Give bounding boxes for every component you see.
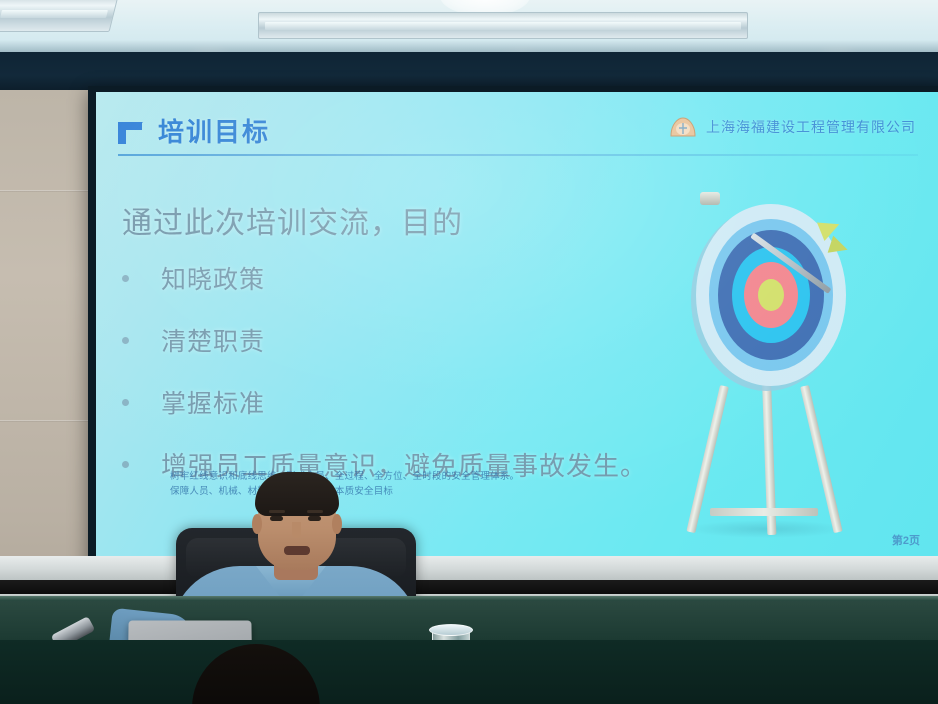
slide-lead-text: 通过此次培训交流，目的 [122, 198, 463, 242]
presenter-hair [255, 472, 339, 516]
slide-page-number: 第2页 [892, 532, 920, 548]
company-branding: 上海海福建设工程管理有限公司 [668, 116, 916, 138]
bullet-text: 知晓政策 [161, 260, 265, 296]
list-item: 清楚职责 [122, 322, 647, 358]
corner-bracket-icon [118, 122, 142, 144]
water-glass-rim [429, 624, 473, 636]
presenter-eyebrow [307, 510, 323, 513]
bullet-dot-icon [122, 399, 129, 406]
presenter-eyebrow [269, 510, 285, 513]
header-divider [118, 154, 918, 156]
target-illustration [634, 190, 934, 530]
company-name: 上海海福建设工程管理有限公司 [706, 117, 916, 137]
presenter-eye [270, 516, 283, 521]
slide-header: 培训目标 上海海福建设工程管理有限公司 [96, 110, 938, 162]
presenter-ear [332, 514, 342, 534]
list-item: 知晓政策 [122, 260, 647, 296]
table-edge [0, 596, 938, 601]
slide-bullet-list: 知晓政策 清楚职责 掌握标准 增强员工质量意识，避免质量事故发生。 [122, 260, 647, 483]
company-logo-icon [668, 116, 698, 138]
presenter-eye [308, 516, 321, 521]
table-front-panel [0, 640, 938, 704]
bullet-text: 掌握标准 [161, 384, 265, 420]
list-item: 掌握标准 [122, 384, 647, 420]
screen-bottom-bar [0, 556, 938, 582]
conference-room-scene: 培训目标 上海海福建设工程管理有限公司 通过此次培训交流，目的 知晓政策 [0, 0, 938, 704]
presenter-nose [292, 522, 301, 538]
bullet-text: 清楚职责 [161, 322, 265, 358]
bullet-dot-icon [122, 275, 129, 282]
presenter-ear [252, 514, 262, 534]
easel-crossbar [710, 508, 818, 516]
air-vent-icon [0, 0, 118, 32]
air-vent-icon [258, 12, 748, 39]
bullet-dot-icon [122, 461, 129, 468]
slide-title: 培训目标 [158, 112, 270, 149]
presenter-mouth [284, 546, 310, 555]
bullet-dot-icon [122, 337, 129, 344]
target-bullseye [758, 279, 784, 311]
